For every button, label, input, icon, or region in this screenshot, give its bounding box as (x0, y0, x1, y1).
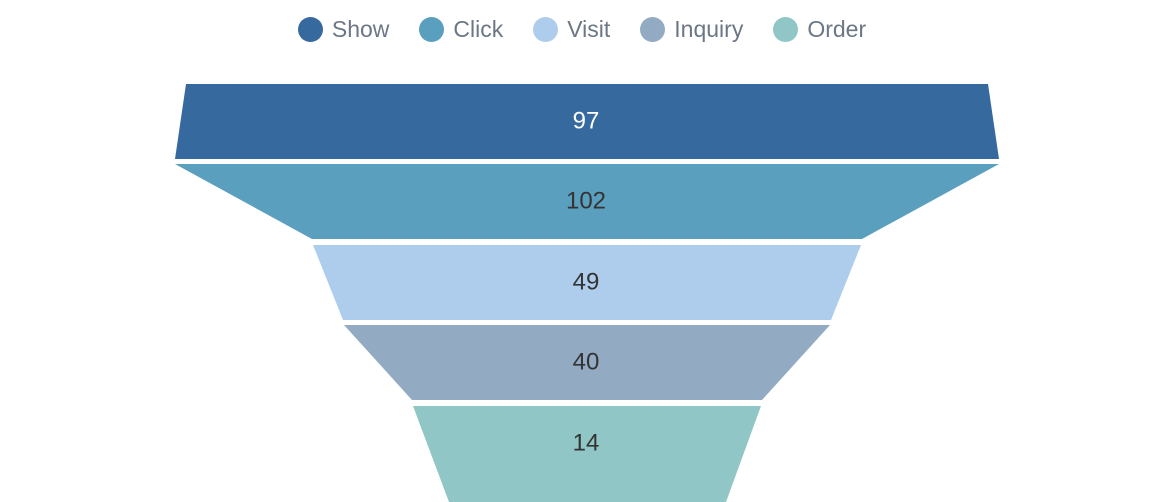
funnel-band-visit[interactable]: 49 (313, 245, 861, 320)
funnel-band-inquiry[interactable]: 40 (344, 325, 830, 400)
funnel-band-value-label: 49 (573, 268, 600, 295)
funnel-band-value-label: 14 (573, 429, 600, 456)
funnel-plot-area: 97 102 49 40 14 (0, 0, 1164, 502)
funnel-band-value-label: 40 (573, 348, 600, 375)
funnel-band-show[interactable]: 97 (175, 84, 999, 159)
funnel-band-order[interactable]: 14 (413, 406, 761, 502)
funnel-band-value-label: 97 (573, 107, 600, 134)
funnel-band-click[interactable]: 102 (175, 164, 999, 239)
funnel-chart: Show Click Visit Inquiry Order 97 102 (0, 0, 1164, 502)
funnel-band-value-label: 102 (566, 187, 606, 214)
